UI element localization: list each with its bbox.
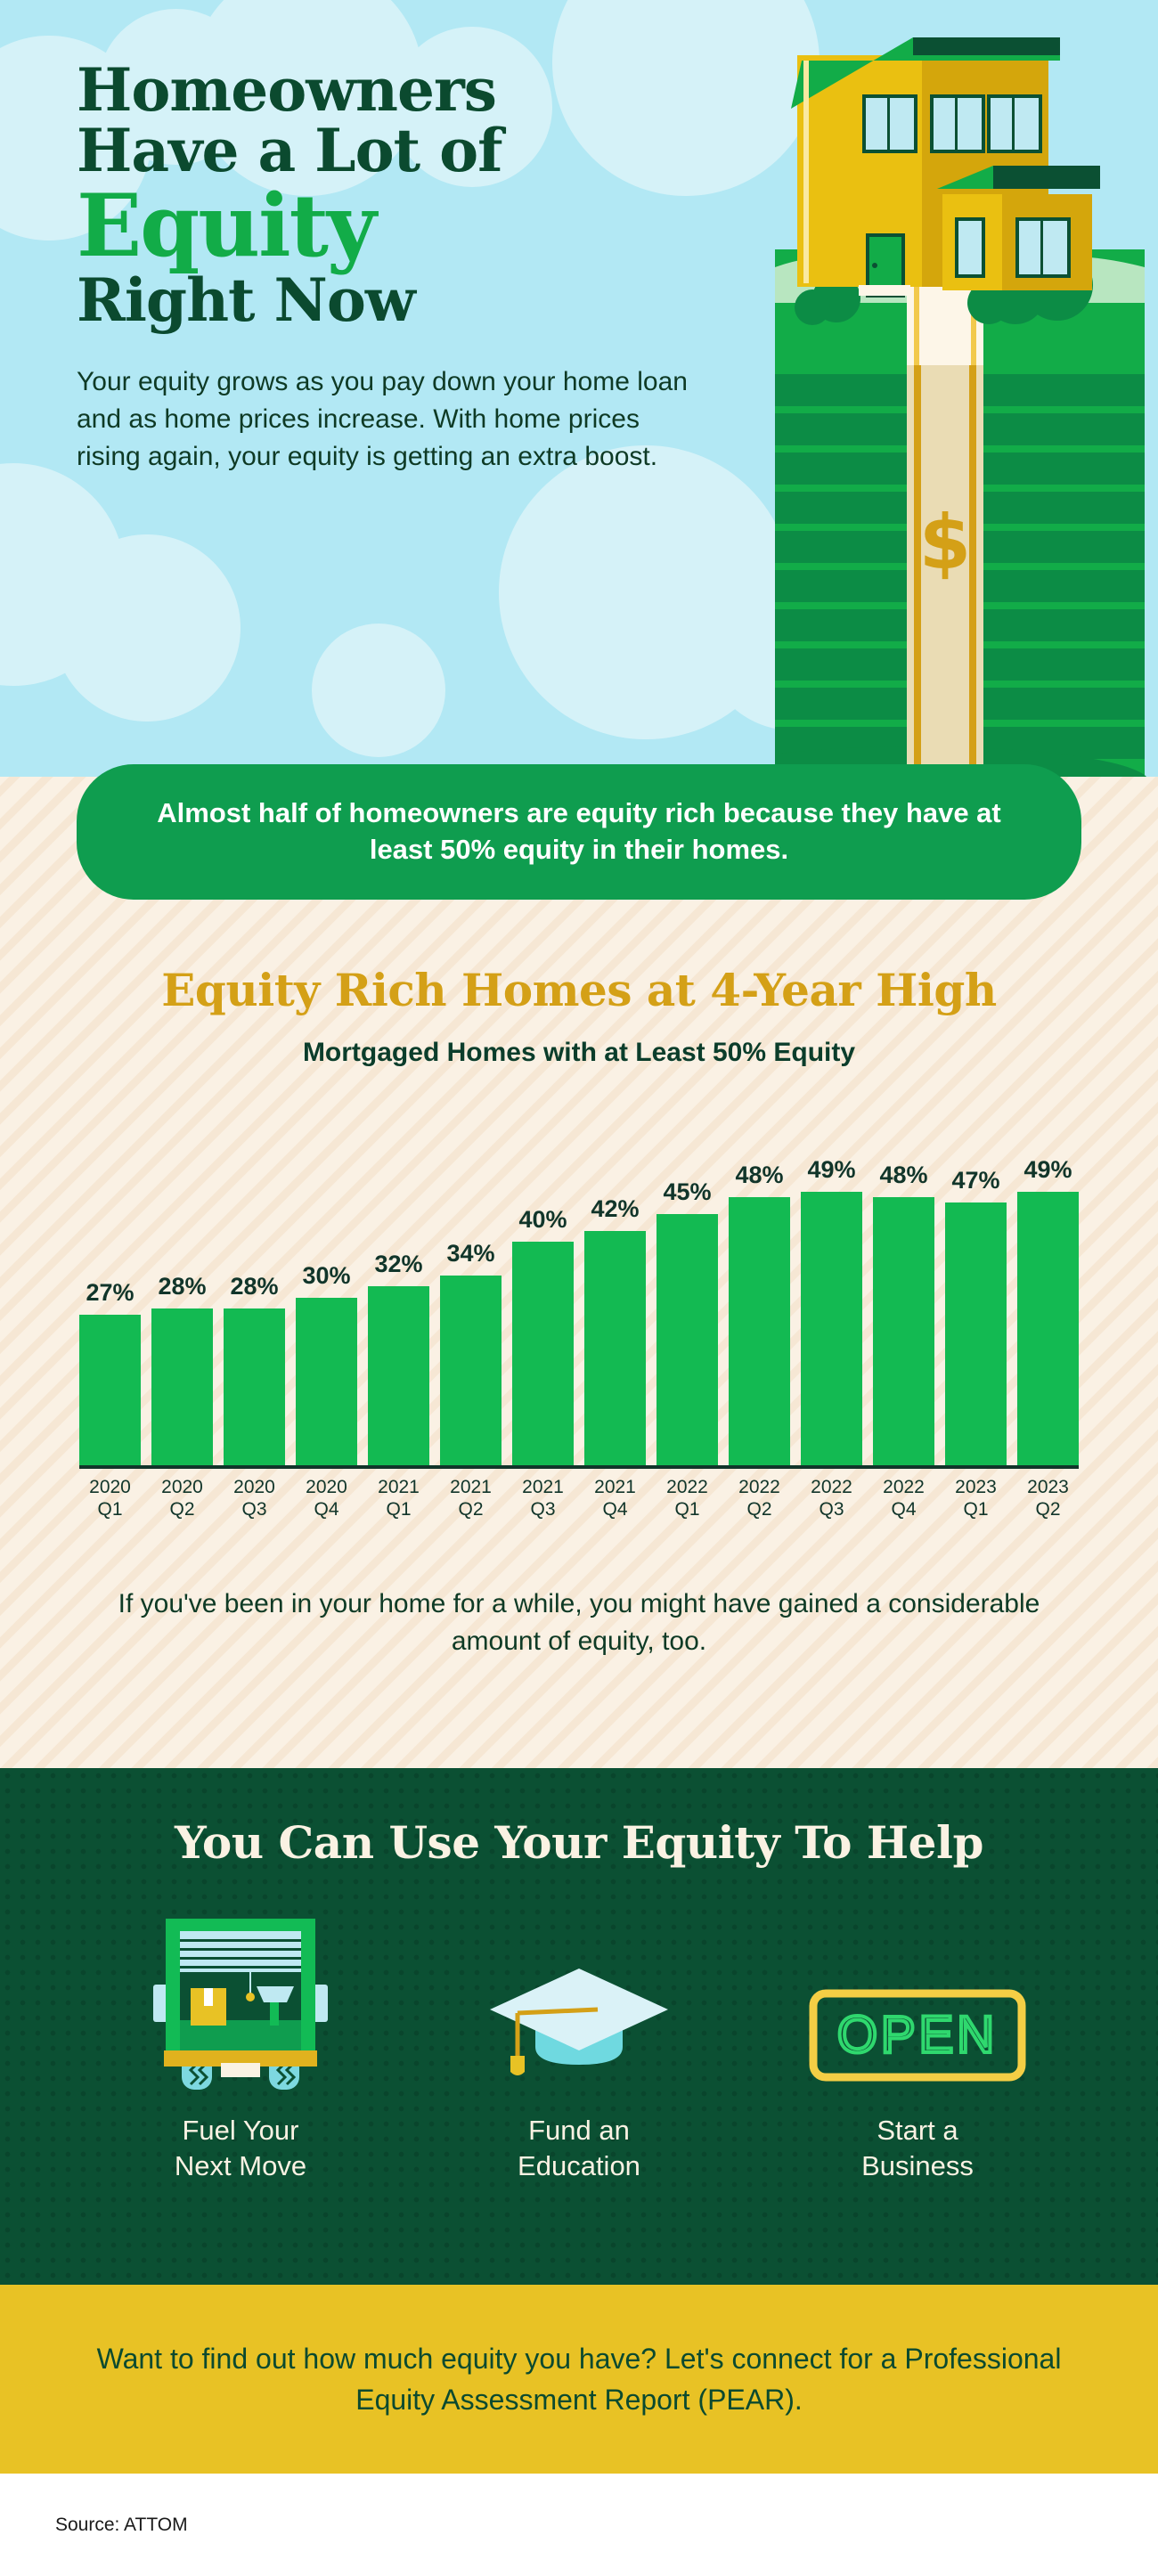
use-item-move: Fuel Your Next Move bbox=[107, 1906, 374, 2185]
source-text: Source: ATTOM bbox=[55, 2515, 188, 2536]
bar-value-label: 34% bbox=[446, 1240, 494, 1268]
house-icon bbox=[791, 37, 1100, 296]
use-label-move-line1: Fuel Your bbox=[175, 2113, 306, 2148]
graduation-cap-icon-wrap bbox=[485, 1906, 673, 2093]
bar-column: 48% bbox=[873, 1118, 934, 1465]
uses-row: Fuel Your Next Move bbox=[0, 1906, 1158, 2185]
source-footer: Source: ATTOM bbox=[0, 2474, 1158, 2576]
bar-value-label: 48% bbox=[879, 1162, 927, 1189]
hero-title-line-2: Have a Lot of bbox=[77, 121, 700, 182]
x-axis-label: 2021Q4 bbox=[584, 1477, 646, 1521]
money-band: $ bbox=[907, 349, 983, 777]
bar-value-label: 28% bbox=[158, 1273, 206, 1300]
x-axis-label: 2021Q3 bbox=[512, 1477, 574, 1521]
bar-column: 34% bbox=[440, 1118, 502, 1465]
bar bbox=[368, 1286, 429, 1465]
x-axis-label: 2020Q4 bbox=[296, 1477, 357, 1521]
bar bbox=[945, 1202, 1007, 1465]
bar-value-label: 45% bbox=[663, 1178, 711, 1206]
bar-column: 27% bbox=[79, 1118, 141, 1465]
cta-text: Want to find out how much equity you hav… bbox=[85, 2338, 1073, 2421]
equity-rich-banner: Almost half of homeowners are equity ric… bbox=[77, 764, 1081, 900]
use-label-education-line1: Fund an bbox=[518, 2113, 640, 2148]
house-window bbox=[1017, 219, 1069, 276]
bar-value-label: 42% bbox=[591, 1195, 639, 1223]
hero-title-line-3: Right Now bbox=[77, 271, 700, 331]
x-axis-label: 2023Q2 bbox=[1017, 1477, 1079, 1521]
moving-truck-icon-wrap bbox=[151, 1906, 330, 2093]
bar bbox=[801, 1192, 862, 1465]
bar bbox=[584, 1231, 646, 1465]
house-window bbox=[957, 219, 983, 276]
use-label-education-line2: Education bbox=[518, 2148, 640, 2184]
house-window bbox=[989, 96, 1040, 151]
use-item-business: OPEN Start a Business bbox=[784, 1906, 1051, 2185]
open-sign-icon-wrap: OPEN bbox=[806, 1906, 1029, 2093]
x-axis-label: 2021Q2 bbox=[440, 1477, 502, 1521]
use-item-education: Fund an Education bbox=[445, 1906, 713, 2185]
infographic-page: Homeowners Have a Lot of Equity Right No… bbox=[0, 0, 1158, 2576]
cta-section: Want to find out how much equity you hav… bbox=[0, 2285, 1158, 2474]
bar bbox=[512, 1242, 574, 1465]
bar-value-label: 40% bbox=[518, 1206, 567, 1234]
bar-value-label: 47% bbox=[951, 1167, 999, 1194]
bar-value-label: 49% bbox=[1023, 1156, 1072, 1184]
bar-group: 27%28%28%30%32%34%40%42%45%48%49%48%47%4… bbox=[79, 1118, 1079, 1465]
x-axis-label: 2020Q3 bbox=[224, 1477, 285, 1521]
bar-column: 45% bbox=[656, 1118, 718, 1465]
moving-truck-icon bbox=[151, 1915, 330, 2093]
bar-value-label: 32% bbox=[374, 1251, 422, 1278]
x-axis-label: 2023Q1 bbox=[945, 1477, 1007, 1521]
bar-column: 49% bbox=[1017, 1118, 1079, 1465]
open-sign-text: OPEN bbox=[837, 2006, 998, 2064]
bar-value-label: 30% bbox=[302, 1262, 350, 1290]
x-axis-label: 2020Q2 bbox=[151, 1477, 213, 1521]
hero-title-accent: Equity bbox=[77, 183, 700, 269]
equity-bar-chart: 27%28%28%30%32%34%40%42%45%48%49%48%47%4… bbox=[79, 1118, 1079, 1465]
chart-x-axis bbox=[79, 1465, 1079, 1469]
open-sign-icon: OPEN bbox=[806, 1977, 1029, 2093]
chart-subtitle: Mortgaged Homes with at Least 50% Equity bbox=[0, 1038, 1158, 1068]
bar-column: 28% bbox=[224, 1118, 285, 1465]
hero-paragraph: Your equity grows as you pay down your h… bbox=[77, 363, 700, 476]
use-label-move: Fuel Your Next Move bbox=[175, 2113, 306, 2185]
bar bbox=[440, 1276, 502, 1465]
x-axis-label: 2021Q1 bbox=[368, 1477, 429, 1521]
equity-uses-section: You Can Use Your Equity To Help bbox=[0, 1768, 1158, 2285]
chart-title: Equity Rich Homes at 4-Year High bbox=[0, 964, 1158, 1016]
bar bbox=[656, 1214, 718, 1465]
graduation-cap-icon bbox=[485, 1951, 673, 2093]
hero-text-block: Homeowners Have a Lot of Equity Right No… bbox=[77, 61, 700, 476]
use-label-business-line1: Start a bbox=[861, 2113, 974, 2148]
cloud-decoration bbox=[312, 624, 445, 757]
house-on-money-stack-illustration: $ bbox=[775, 0, 1158, 777]
bar bbox=[1017, 1192, 1079, 1465]
chart-x-labels: 2020Q12020Q22020Q32020Q42021Q12021Q22021… bbox=[79, 1477, 1079, 1521]
bar-value-label: 28% bbox=[230, 1273, 278, 1300]
house-window bbox=[864, 96, 916, 151]
hero-section: Homeowners Have a Lot of Equity Right No… bbox=[0, 0, 1158, 777]
use-label-business: Start a Business bbox=[861, 2113, 974, 2185]
x-axis-label: 2022Q1 bbox=[656, 1477, 718, 1521]
bar-column: 30% bbox=[296, 1118, 357, 1465]
bar-value-label: 27% bbox=[86, 1279, 134, 1307]
x-axis-label: 2022Q3 bbox=[801, 1477, 862, 1521]
cloud-decoration bbox=[53, 534, 241, 721]
bar-column: 49% bbox=[801, 1118, 862, 1465]
bar-value-label: 49% bbox=[807, 1156, 855, 1184]
svg-text:$: $ bbox=[919, 499, 971, 586]
x-axis-label: 2022Q4 bbox=[873, 1477, 934, 1521]
bar-column: 28% bbox=[151, 1118, 213, 1465]
bar-column: 42% bbox=[584, 1118, 646, 1465]
bar-column: 40% bbox=[512, 1118, 574, 1465]
bar bbox=[151, 1308, 213, 1465]
bar-column: 48% bbox=[729, 1118, 790, 1465]
bar bbox=[224, 1308, 285, 1465]
use-label-business-line2: Business bbox=[861, 2148, 974, 2184]
use-label-move-line2: Next Move bbox=[175, 2148, 306, 2184]
chart-footer-text: If you've been in your home for a while,… bbox=[116, 1586, 1042, 1661]
banner-wrapper: Almost half of homeowners are equity ric… bbox=[0, 764, 1158, 900]
x-axis-label: 2020Q1 bbox=[79, 1477, 141, 1521]
uses-title: You Can Use Your Equity To Help bbox=[0, 1816, 1158, 1869]
bar bbox=[873, 1197, 934, 1465]
use-label-education: Fund an Education bbox=[518, 2113, 640, 2185]
x-axis-label: 2022Q2 bbox=[729, 1477, 790, 1521]
bar bbox=[79, 1315, 141, 1465]
bar-value-label: 48% bbox=[735, 1162, 783, 1189]
bar-column: 47% bbox=[945, 1118, 1007, 1465]
bar bbox=[296, 1298, 357, 1465]
house-window bbox=[932, 96, 983, 151]
chart-section: Equity Rich Homes at 4-Year High Mortgag… bbox=[0, 777, 1158, 1768]
bar-column: 32% bbox=[368, 1118, 429, 1465]
hero-title-line-1: Homeowners bbox=[77, 61, 700, 121]
bar bbox=[729, 1197, 790, 1465]
